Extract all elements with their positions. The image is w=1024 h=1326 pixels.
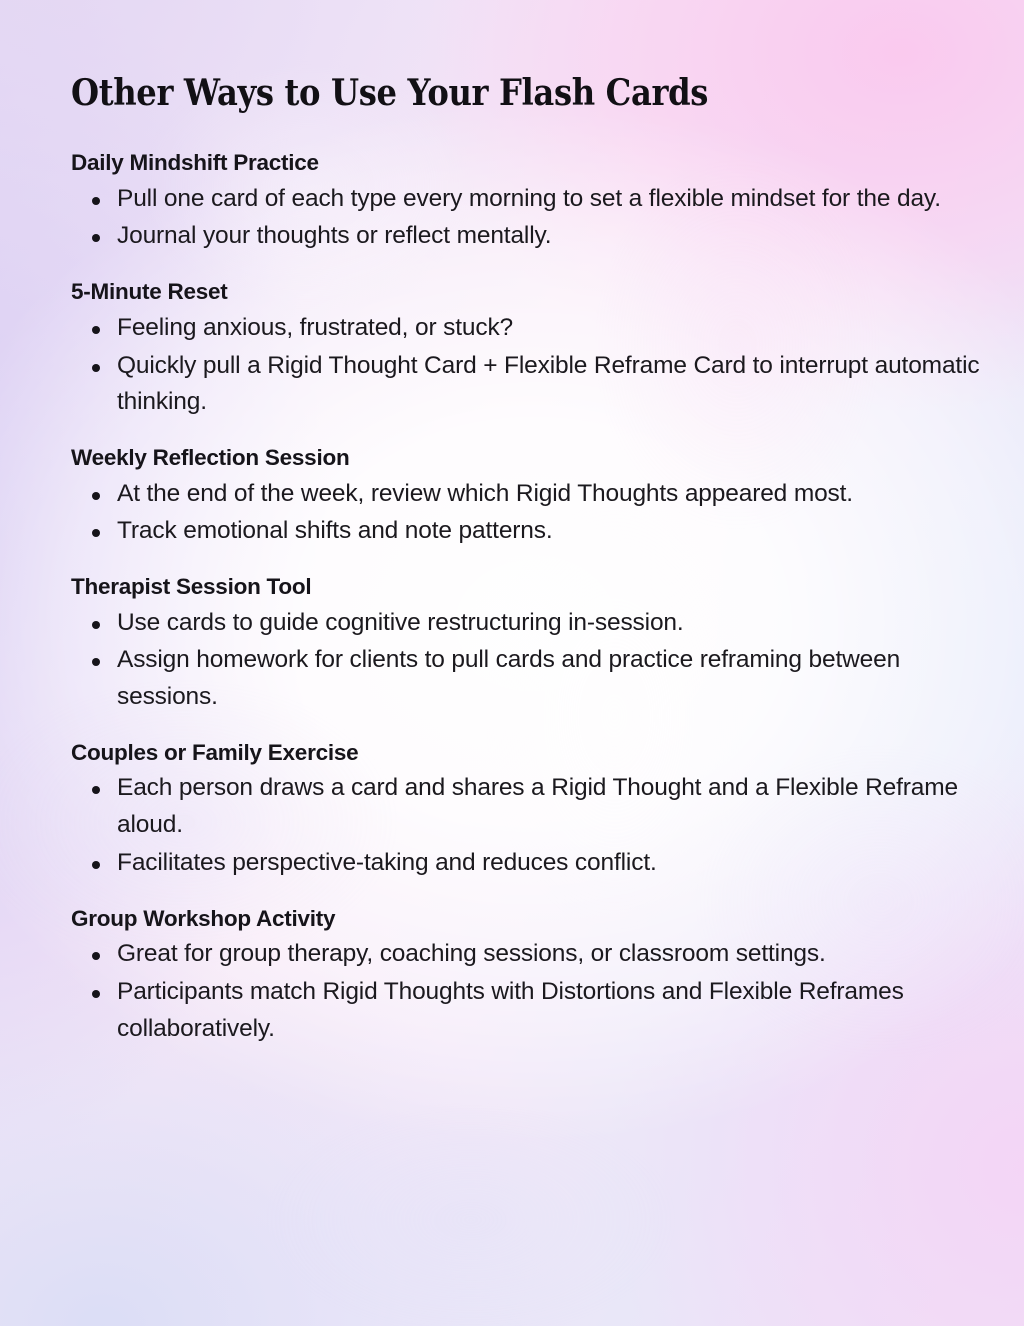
section-heading: Weekly Reflection Session [71,445,984,472]
list-item: Each person draws a card and shares a Ri… [71,770,984,844]
bullet-list: Use cards to guide cognitive restructuri… [71,605,984,716]
content-section: Group Workshop ActivityGreat for group t… [71,906,984,1048]
list-item: Journal your thoughts or reflect mentall… [71,218,984,255]
list-item: Quickly pull a Rigid Thought Card + Flex… [71,348,984,422]
sections-container: Daily Mindshift PracticePull one card of… [71,150,984,1047]
bullet-list: Feeling anxious, frustrated, or stuck?Qu… [71,310,984,421]
list-item: Feeling anxious, frustrated, or stuck? [71,310,984,347]
bullet-list: At the end of the week, review which Rig… [71,476,984,551]
content-section: Couples or Family ExerciseEach person dr… [71,740,984,882]
list-item: Use cards to guide cognitive restructuri… [71,605,984,642]
section-heading: Therapist Session Tool [71,574,984,601]
section-heading: Daily Mindshift Practice [71,150,984,177]
bullet-list: Great for group therapy, coaching sessio… [71,936,984,1047]
content-section: Weekly Reflection SessionAt the end of t… [71,445,984,550]
section-heading: Couples or Family Exercise [71,740,984,767]
list-item: Participants match Rigid Thoughts with D… [71,974,984,1048]
list-item: Great for group therapy, coaching sessio… [71,936,984,973]
page-title: Other Ways to Use Your Flash Cards [71,74,888,112]
content-section: Therapist Session ToolUse cards to guide… [71,574,984,716]
list-item: At the end of the week, review which Rig… [71,476,984,513]
bullet-list: Each person draws a card and shares a Ri… [71,770,984,881]
list-item: Assign homework for clients to pull card… [71,642,984,716]
document-page: Other Ways to Use Your Flash Cards Daily… [0,0,1024,1326]
list-item: Pull one card of each type every morning… [71,181,984,218]
list-item: Track emotional shifts and note patterns… [71,513,984,550]
section-heading: Group Workshop Activity [71,906,984,933]
section-heading: 5-Minute Reset [71,279,984,306]
bullet-list: Pull one card of each type every morning… [71,181,984,256]
content-section: Daily Mindshift PracticePull one card of… [71,150,984,255]
list-item: Facilitates perspective-taking and reduc… [71,845,984,882]
content-section: 5-Minute ResetFeeling anxious, frustrate… [71,279,984,421]
